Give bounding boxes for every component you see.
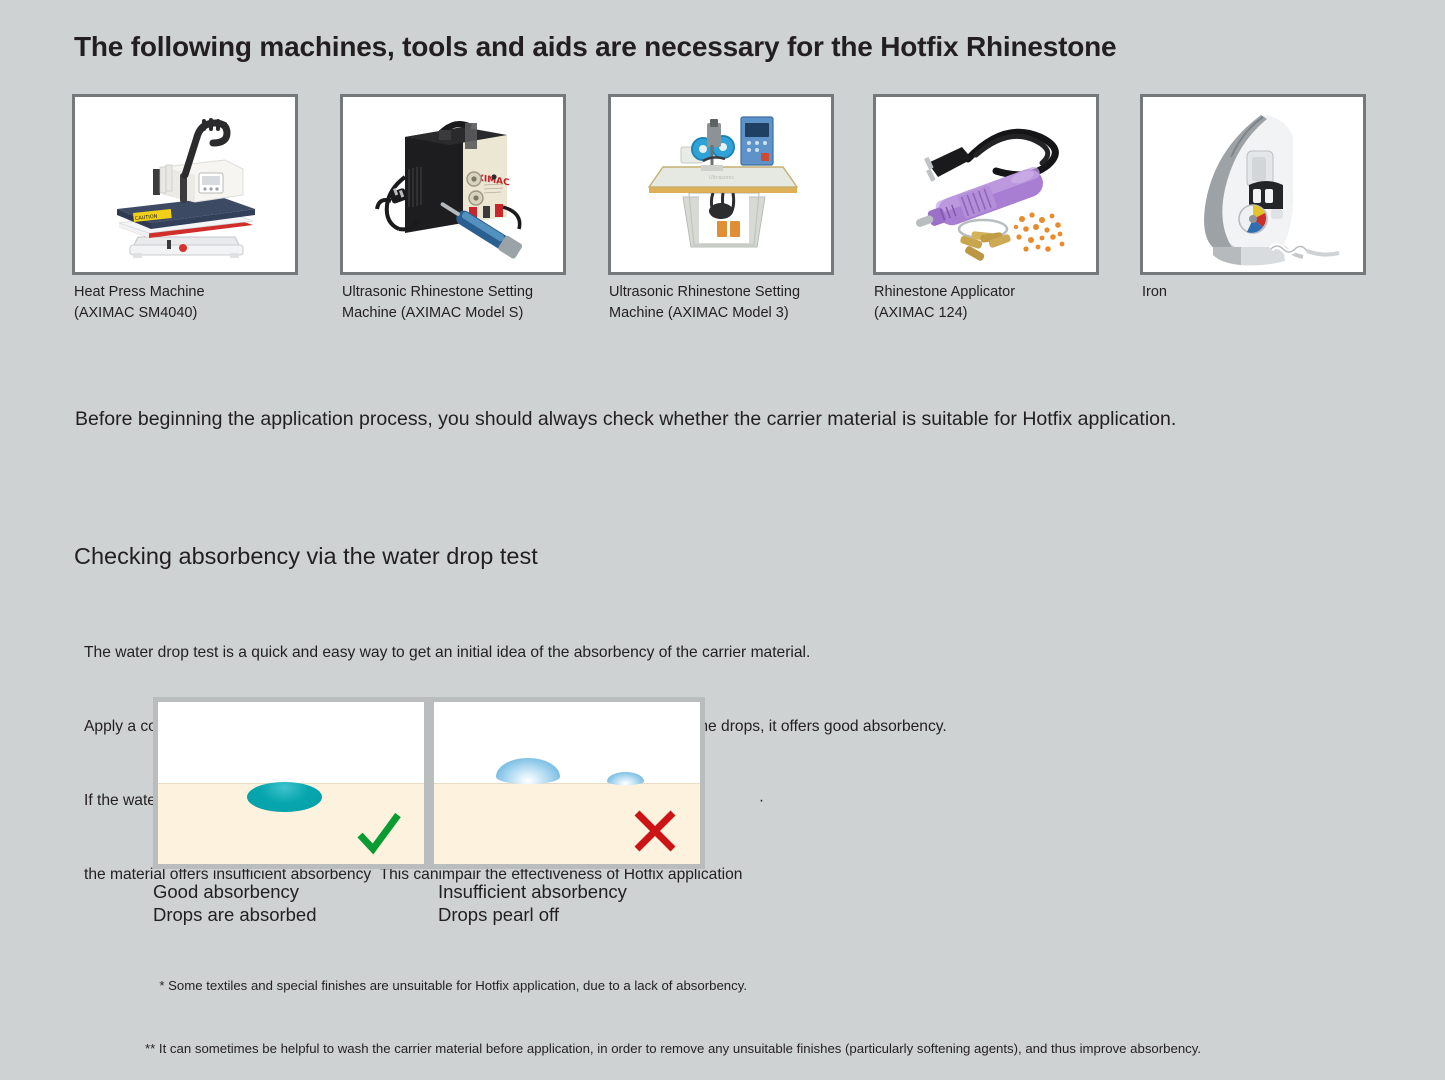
product-card-ultrasonic-model-s: AXIMAC [340, 94, 566, 275]
svg-text:Ultrasonic: Ultrasonic [709, 175, 734, 181]
caption-ultrasonic-model-3: Ultrasonic Rhinestone Setting Machine (A… [609, 282, 859, 324]
caption-line-2: Machine (AXIMAC Model 3) [609, 303, 859, 324]
footnote-double-asterisk: ** It can sometimes be helpful to wash t… [145, 1038, 1201, 1059]
caption-iron: Iron [1142, 282, 1392, 303]
footnotes: * Some textiles and special finishes are… [152, 933, 1201, 1080]
beaded-water-drop-large [496, 758, 560, 784]
absorbed-water-drop [247, 782, 322, 812]
cross-mark-icon [632, 808, 678, 854]
ultrasonic-setting-machine-model-3-photo: Ultrasonic [611, 97, 831, 272]
check-mark-icon [356, 810, 402, 856]
beaded-water-drop-small [607, 772, 644, 785]
page-title: The following machines, tools and aids a… [74, 31, 1116, 63]
label-line-1: Insufficient absorbency [438, 881, 627, 902]
caption-line-2: Machine (AXIMAC Model S) [342, 303, 592, 324]
label-line-1: Good absorbency [153, 881, 299, 902]
rhinestone-applicator-photo [876, 97, 1096, 272]
product-card-iron [1140, 94, 1366, 275]
paragraph-line-1: The water drop test is a quick and easy … [84, 641, 947, 666]
product-card-ultrasonic-model-3: Ultrasonic [608, 94, 834, 275]
caption-ultrasonic-model-s: Ultrasonic Rhinestone Setting Machine (A… [342, 282, 592, 324]
caption-line-1: Ultrasonic Rhinestone Setting [609, 284, 800, 300]
product-card-rhinestone-applicator [873, 94, 1099, 275]
label-line-2: Drops pearl off [438, 903, 627, 926]
carrier-material-note: Before beginning the application process… [75, 408, 1176, 431]
iron-photo [1143, 97, 1363, 272]
good-absorbency-panel [158, 702, 424, 864]
label-good-absorbency: Good absorbency Drops are absorbed [153, 880, 317, 926]
caption-line-1: Heat Press Machine [74, 284, 205, 300]
caption-line-1: Rhinestone Applicator [874, 284, 1015, 300]
caption-line-2: (AXIMAC 124) [874, 303, 1124, 324]
caption-rhinestone-applicator: Rhinestone Applicator (AXIMAC 124) [874, 282, 1124, 324]
figure-labels: Good absorbency Drops are absorbed Insuf… [153, 880, 753, 930]
water-drop-test-figure [153, 697, 705, 869]
heat-press-machine-photo: CAUTION [75, 97, 295, 272]
label-insufficient-absorbency: Insufficient absorbency Drops pearl off [438, 880, 627, 926]
footnote-single-asterisk: * Some textiles and special finishes are… [152, 975, 1201, 996]
product-card-heat-press-machine: CAUTION [72, 94, 298, 275]
product-captions: Heat Press Machine (AXIMAC SM4040) Ultra… [74, 282, 1394, 338]
insufficient-absorbency-panel [434, 702, 700, 864]
caption-heat-press-machine: Heat Press Machine (AXIMAC SM4040) [74, 282, 324, 324]
ultrasonic-setting-machine-model-s-photo: AXIMAC [343, 97, 563, 272]
caption-line-1: Iron [1142, 284, 1167, 300]
product-image-strip: CAUTION [72, 94, 1372, 279]
caption-line-2: (AXIMAC SM4040) [74, 303, 324, 324]
label-line-2: Drops are absorbed [153, 903, 317, 926]
section-title-water-drop-test: Checking absorbency via the water drop t… [74, 543, 538, 570]
caption-line-1: Ultrasonic Rhinestone Setting [342, 284, 533, 300]
